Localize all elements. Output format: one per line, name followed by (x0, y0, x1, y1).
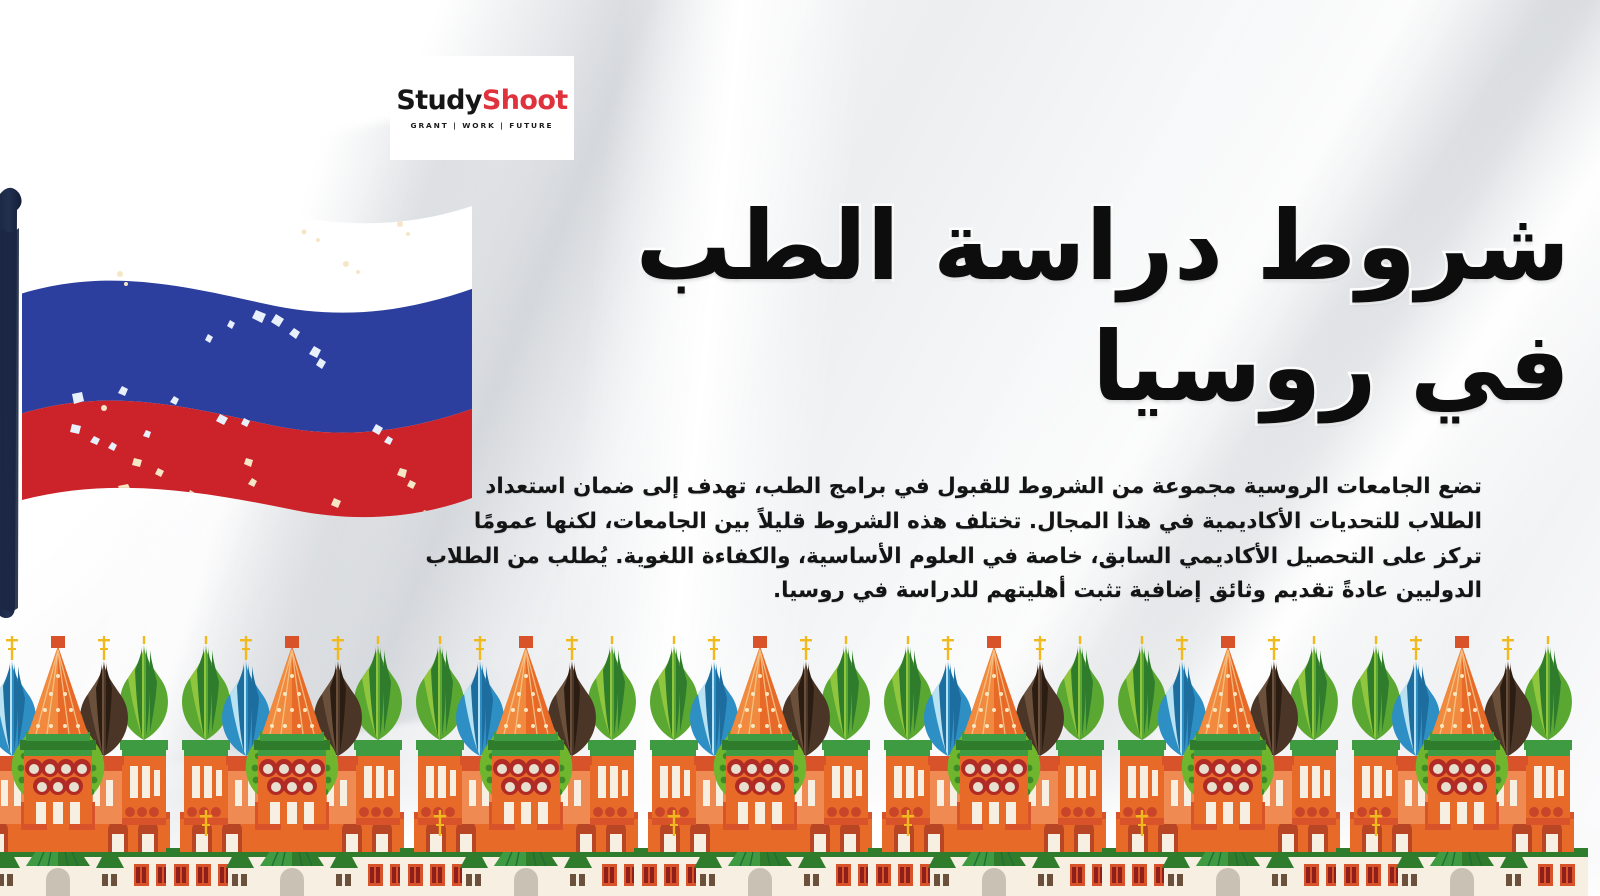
page-title-line-1: شروط دراسة الطب (450, 186, 1570, 307)
page-title: شروط دراسة الطب في روسيا (450, 186, 1570, 428)
logo-word-shoot: Shoot (482, 85, 568, 116)
banner-canvas: StudyShoot GRANT | WORK | FUTURE شروط در… (0, 0, 1600, 896)
logo-wordmark: StudyShoot (396, 87, 567, 114)
page-title-line-2: في روسيا (450, 307, 1570, 428)
flag-pole (0, 188, 22, 618)
body-paragraph: تضع الجامعات الروسية مجموعة من الشروط لل… (420, 470, 1482, 609)
saint-basils-skyline (0, 636, 1600, 896)
studyshoot-logo[interactable]: StudyShoot GRANT | WORK | FUTURE (390, 56, 574, 160)
logo-word-study: Study (396, 85, 482, 116)
logo-tagline: GRANT | WORK | FUTURE (411, 121, 554, 130)
cathedral-repeat-group (0, 636, 1588, 896)
